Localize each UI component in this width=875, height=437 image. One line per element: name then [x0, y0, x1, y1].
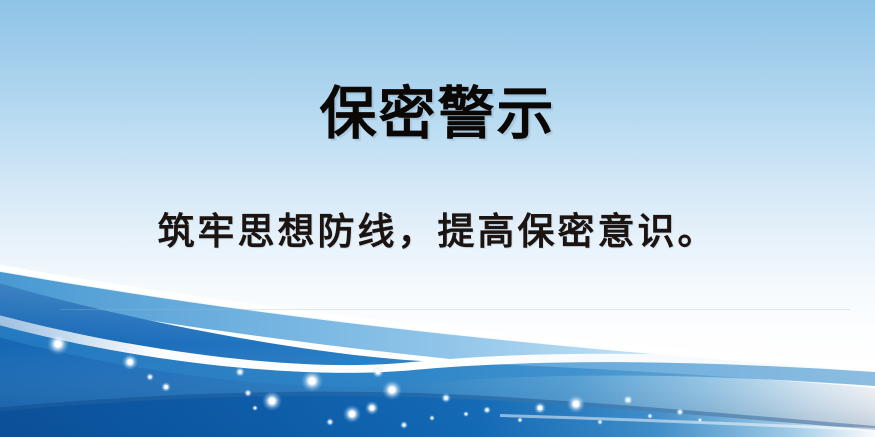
- scanline-artifact: [60, 309, 850, 310]
- page-subtitle: 筑牢思想防线，提高保密意识。: [0, 208, 875, 256]
- blue-wave-banner: [0, 262, 875, 437]
- page-title: 保密警示: [0, 82, 875, 146]
- confidentiality-warning-poster: 保密警示 筑牢思想防线，提高保密意识。: [0, 0, 875, 437]
